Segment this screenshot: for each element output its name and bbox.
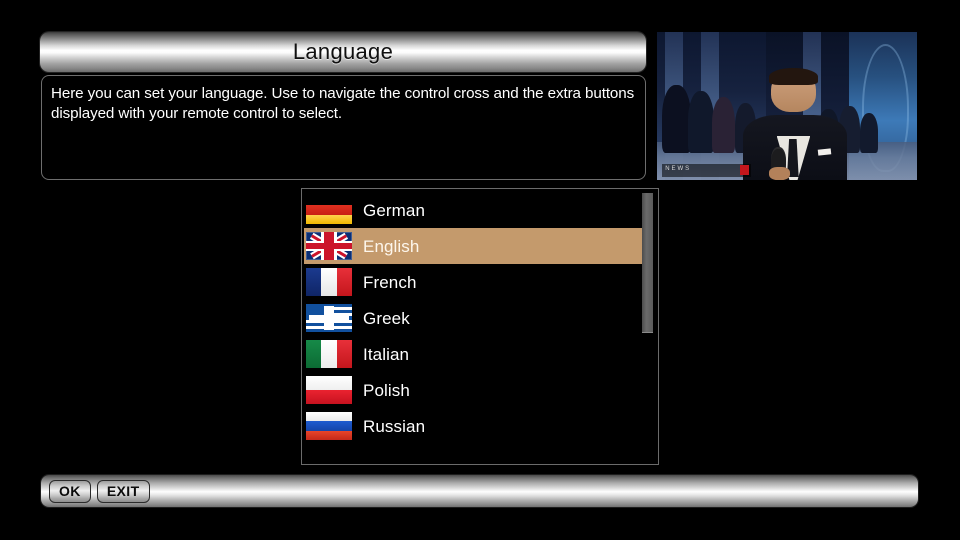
- list-item-russian[interactable]: Russian: [304, 408, 642, 444]
- preview-reporter-hand: [769, 167, 790, 180]
- exit-button-label: EXIT: [107, 484, 140, 498]
- preview-channel-watermark: NEWS: [662, 164, 750, 177]
- bottom-button-bar: OK EXIT: [41, 475, 918, 507]
- list-item-label: English: [363, 238, 419, 255]
- page-title: Language: [293, 41, 393, 63]
- preview-reporter-hair: [769, 68, 818, 86]
- flag-fr-icon: [306, 268, 352, 296]
- list-item-label: German: [363, 202, 425, 219]
- preview-crowd-figure: [688, 91, 714, 153]
- window-title-bar: Language: [40, 32, 646, 72]
- list-item-german[interactable]: German: [304, 192, 642, 228]
- scrollbar[interactable]: [642, 193, 653, 462]
- live-tv-preview[interactable]: NEWS: [657, 32, 917, 180]
- list-item-label: Italian: [363, 346, 409, 363]
- preview-channel-watermark-label: NEWS: [662, 164, 750, 172]
- preview-crowd-figure: [662, 85, 691, 153]
- list-item-italian[interactable]: Italian: [304, 336, 642, 372]
- list-item-french[interactable]: French: [304, 264, 642, 300]
- preview-crowd-figure: [712, 97, 735, 153]
- ok-button-label: OK: [59, 484, 81, 498]
- flag-gr-icon: [306, 304, 352, 332]
- list-item-polish[interactable]: Polish: [304, 372, 642, 408]
- flag-it-icon: [306, 340, 352, 368]
- list-item-label: Polish: [363, 382, 410, 399]
- list-item-greek[interactable]: Greek: [304, 300, 642, 336]
- list-item-label: French: [363, 274, 417, 291]
- exit-button[interactable]: EXIT: [97, 480, 150, 503]
- flag-pl-icon: [306, 376, 352, 404]
- flag-de-icon: [306, 196, 352, 224]
- language-list-panel: German English French: [301, 188, 659, 465]
- scrollbar-thumb[interactable]: [642, 193, 653, 333]
- flag-gb-icon: [306, 232, 352, 260]
- list-item-english[interactable]: English: [304, 228, 642, 264]
- flag-ru-icon: [306, 412, 352, 440]
- preview-crowd-figure: [860, 113, 878, 153]
- tv-settings-screen: Language Here you can set your language.…: [0, 0, 960, 540]
- description-text: Here you can set your language. Use to n…: [51, 84, 636, 124]
- list-item-label: Russian: [363, 418, 425, 435]
- ok-button[interactable]: OK: [49, 480, 91, 503]
- description-panel: Here you can set your language. Use to n…: [41, 75, 646, 180]
- list-item-label: Greek: [363, 310, 410, 327]
- language-list: German English French: [304, 192, 642, 444]
